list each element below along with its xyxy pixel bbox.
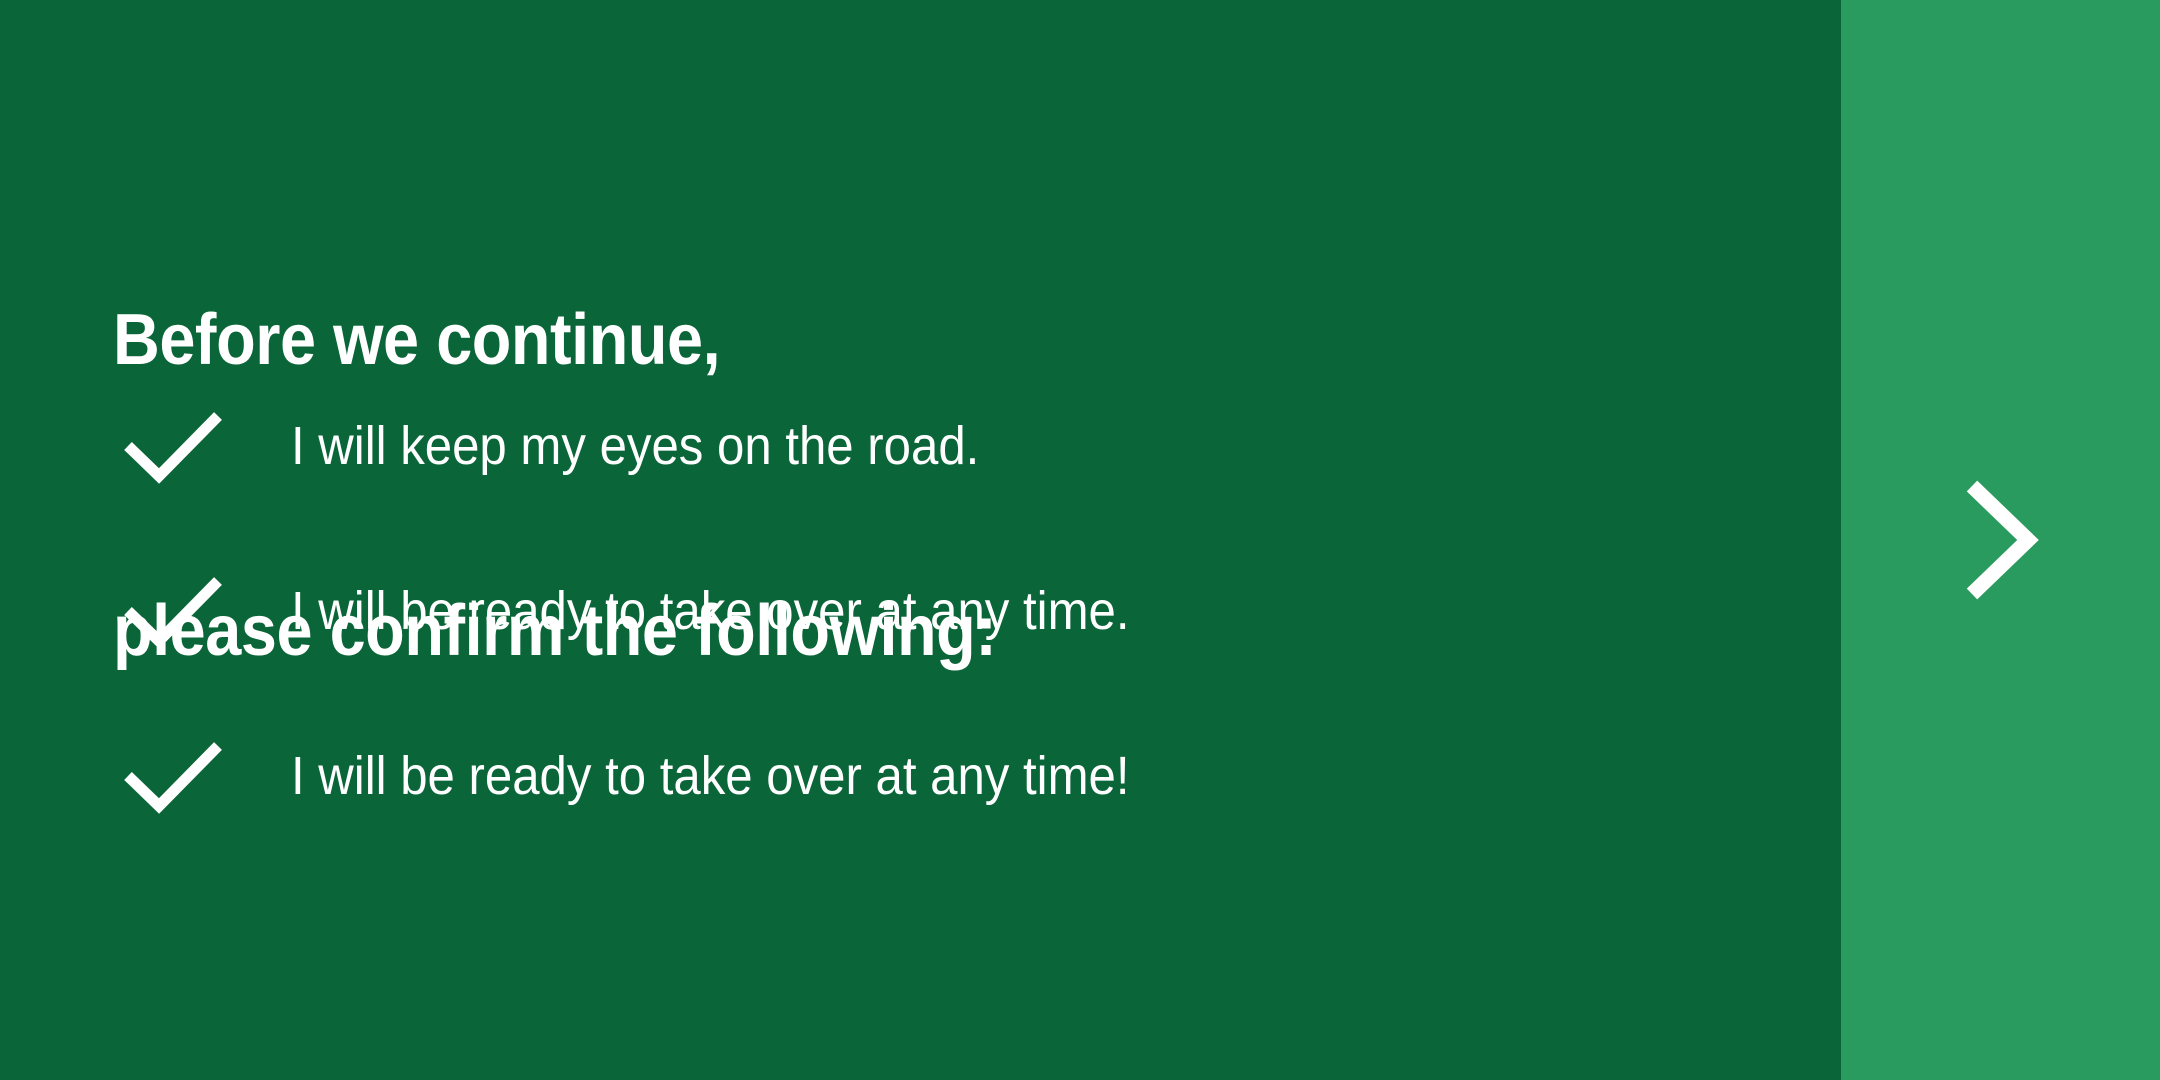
list-item-label: I will keep my eyes on the road. <box>291 419 979 473</box>
next-button[interactable] <box>1960 480 2038 600</box>
confirmation-screen: Before we continue, please confirm the f… <box>0 0 2160 1080</box>
confirmation-checklist: I will keep my eyes on the road. I will … <box>113 392 1212 830</box>
list-item-label: I will be ready to take over at any time… <box>291 584 1130 638</box>
list-item-label: I will be ready to take over at any time… <box>291 749 1130 803</box>
chevron-right-icon <box>1960 480 2038 600</box>
page-title-line-1: Before we continue, <box>113 292 996 389</box>
list-item[interactable]: I will keep my eyes on the road. <box>113 392 1212 500</box>
check-icon <box>125 406 221 486</box>
list-item[interactable]: I will be ready to take over at any time… <box>113 557 1212 665</box>
main-panel: Before we continue, please confirm the f… <box>0 0 1841 1080</box>
next-panel[interactable] <box>1841 0 2160 1080</box>
check-icon <box>125 736 221 816</box>
check-icon <box>125 571 221 651</box>
list-item[interactable]: I will be ready to take over at any time… <box>113 722 1212 830</box>
